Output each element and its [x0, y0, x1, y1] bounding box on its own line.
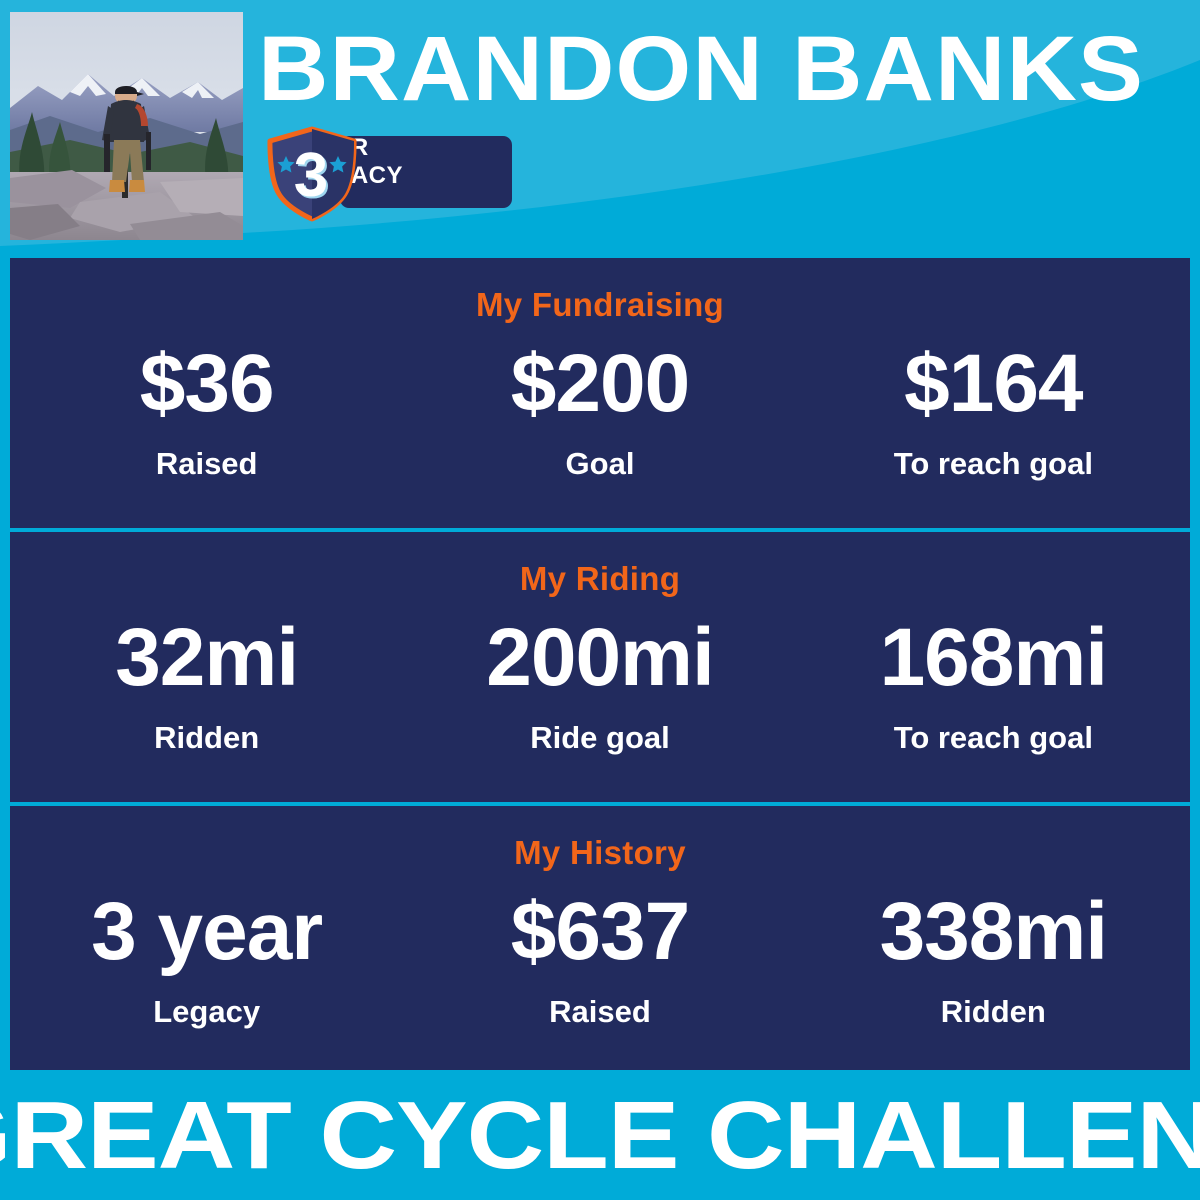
stat-value: $36 — [10, 336, 403, 432]
stat-value: $637 — [403, 884, 796, 980]
stat-raised: $36 Raised — [10, 336, 403, 484]
legacy-number: 3 — [294, 141, 328, 210]
stat-label: To reach goal — [797, 718, 1190, 758]
stats-row: 32mi Ridden 200mi Ride goal 168mi To rea… — [10, 610, 1190, 758]
stat-label: Raised — [10, 444, 403, 484]
section-title: My History — [10, 834, 1190, 872]
section-history: My History 3 year Legacy $637 Raised 338… — [10, 806, 1190, 1070]
stat-value: 200mi — [403, 610, 796, 706]
stat-total-ridden: 338mi Ridden — [797, 884, 1190, 1032]
header-banner: BRANDON BANKS YEAR LEGACY 3 3 — [0, 0, 1200, 258]
stat-ridden: 32mi Ridden — [10, 610, 403, 758]
shield-icon: 3 3 — [262, 126, 362, 222]
stats-row: $36 Raised $200 Goal $164 To reach goal — [10, 336, 1190, 484]
page-title: BRANDON BANKS — [258, 14, 1000, 124]
avatar-photo — [10, 12, 243, 240]
stat-label: Raised — [403, 992, 796, 1032]
stat-value: 32mi — [10, 610, 403, 706]
stat-label: Goal — [403, 444, 796, 484]
section-title: My Riding — [10, 560, 1190, 598]
stat-value: 3 year — [10, 884, 403, 980]
section-riding: My Riding 32mi Ridden 200mi Ride goal 16… — [10, 532, 1190, 802]
stat-label: Ridden — [797, 992, 1190, 1032]
stat-label: Ride goal — [403, 718, 796, 758]
stat-value: $200 — [403, 336, 796, 432]
footer-banner: GREAT CYCLE CHALLENGE — [0, 1070, 1200, 1200]
stat-miles-to-reach-goal: 168mi To reach goal — [797, 610, 1190, 758]
great-cycle-challenge-logo: GREAT CYCLE CHALLENGE — [0, 1084, 1200, 1188]
stat-label: Ridden — [10, 718, 403, 758]
stat-legacy: 3 year Legacy — [10, 884, 403, 1032]
stat-value: 168mi — [797, 610, 1190, 706]
stats-panel: My Fundraising $36 Raised $200 Goal $164… — [10, 258, 1190, 1070]
stat-label: To reach goal — [797, 444, 1190, 484]
legacy-badge: YEAR LEGACY 3 3 — [262, 126, 512, 222]
fundraiser-stats-card: BRANDON BANKS YEAR LEGACY 3 3 — [0, 0, 1200, 1200]
stat-to-reach-goal: $164 To reach goal — [797, 336, 1190, 484]
avatar — [10, 12, 243, 240]
stat-ride-goal: 200mi Ride goal — [403, 610, 796, 758]
stat-value: $164 — [797, 336, 1190, 432]
section-title: My Fundraising — [10, 286, 1190, 324]
stats-row: 3 year Legacy $637 Raised 338mi Ridden — [10, 884, 1190, 1032]
stat-label: Legacy — [10, 992, 403, 1032]
stat-goal: $200 Goal — [403, 336, 796, 484]
stat-value: 338mi — [797, 884, 1190, 980]
stat-total-raised: $637 Raised — [403, 884, 796, 1032]
section-fundraising: My Fundraising $36 Raised $200 Goal $164… — [10, 258, 1190, 528]
